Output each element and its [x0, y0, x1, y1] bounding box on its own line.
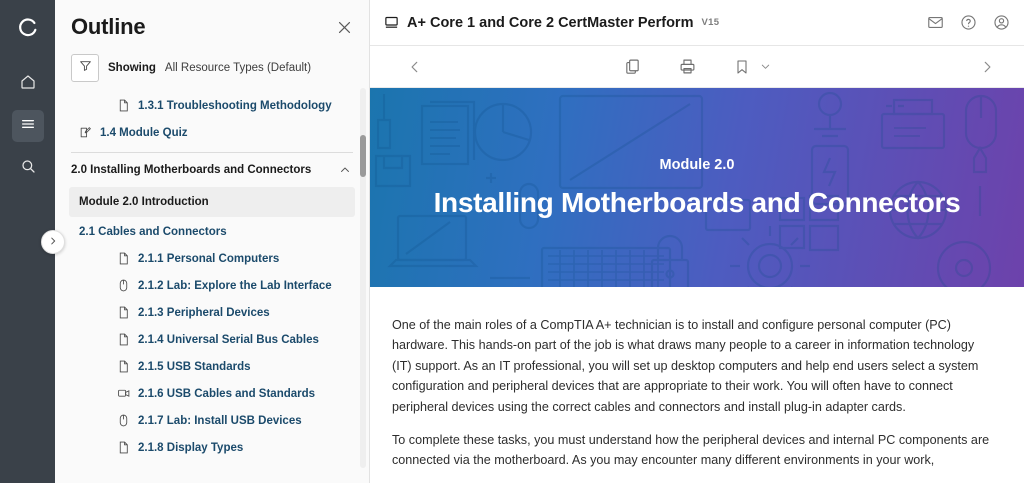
outline-item-label: 2.1.6 USB Cables and Standards	[138, 388, 315, 400]
print-icon[interactable]	[679, 58, 696, 75]
bookmark-group	[734, 59, 771, 75]
outline-item-label: 2.1 Cables and Connectors	[79, 226, 227, 238]
outline-panel: Outline Showing All Resource Types (Defa…	[55, 0, 370, 483]
course-title-group: A+ Core 1 and Core 2 CertMaster Perform …	[384, 15, 719, 31]
outline-item-2-1-4[interactable]: 2.1.4 Universal Serial Bus Cables	[65, 326, 359, 353]
showing-label: Showing	[108, 62, 156, 74]
outline-item-2-1[interactable]: 2.1 Cables and Connectors	[65, 219, 359, 245]
document-icon	[117, 360, 131, 373]
copy-icon[interactable]	[624, 58, 641, 75]
course-header: A+ Core 1 and Core 2 CertMaster Perform …	[370, 0, 1024, 46]
next-page-button[interactable]	[980, 60, 994, 74]
document-icon	[117, 306, 131, 319]
close-icon[interactable]	[336, 19, 353, 36]
toolbar-actions	[624, 58, 771, 75]
monitor-icon	[384, 15, 399, 30]
outline-item-2-1-2[interactable]: 2.1.2 Lab: Explore the Lab Interface	[65, 272, 359, 299]
outline-item-label: 1.3.1 Troubleshooting Methodology	[138, 100, 332, 112]
filter-icon	[79, 59, 92, 77]
outline-divider	[71, 152, 353, 153]
outline-item-2-1-7[interactable]: 2.1.7 Lab: Install USB Devices	[65, 407, 359, 434]
outline-item-label: 2.1.3 Peripheral Devices	[138, 307, 270, 319]
version-badge: V15	[701, 17, 719, 28]
page-toolbar	[370, 46, 1024, 88]
mail-icon[interactable]	[927, 14, 944, 31]
search-icon	[20, 158, 36, 179]
outline-item-2-1-1[interactable]: 2.1.1 Personal Computers	[65, 245, 359, 272]
outline-item-module-2-intro[interactable]: Module 2.0 Introduction	[69, 187, 355, 217]
outline-item-label: 2.1.1 Personal Computers	[138, 253, 279, 265]
outline-item-label: 1.4 Module Quiz	[100, 127, 188, 139]
course-title: A+ Core 1 and Core 2 CertMaster Perform	[407, 15, 693, 31]
chevron-right-icon	[48, 233, 58, 251]
outline-header: Outline	[55, 0, 369, 50]
home-icon	[20, 74, 36, 95]
rail-item-outline[interactable]	[12, 110, 44, 142]
rail-item-search[interactable]	[12, 152, 44, 184]
outline-item-1-3-1[interactable]: 1.3.1 Troubleshooting Methodology	[65, 92, 359, 119]
panel-collapse-handle[interactable]	[41, 230, 65, 254]
outline-item-2-1-8[interactable]: 2.1.8 Display Types	[65, 434, 359, 461]
video-icon	[117, 387, 131, 400]
content-panel: A+ Core 1 and Core 2 CertMaster Perform …	[370, 0, 1024, 483]
outline-item-2-1-6[interactable]: 2.1.6 USB Cables and Standards	[65, 380, 359, 407]
banner-module-label: Module 2.0	[660, 157, 735, 173]
showing-value[interactable]: All Resource Types (Default)	[165, 62, 311, 74]
module-banner: Module 2.0 Installing Motherboards and C…	[370, 88, 1024, 287]
rail-item-home[interactable]	[12, 68, 44, 100]
app-root: Outline Showing All Resource Types (Defa…	[0, 0, 1024, 483]
mouse-icon	[117, 414, 131, 427]
chevron-down-icon[interactable]	[760, 61, 771, 72]
outline-item-label: 2.1.2 Lab: Explore the Lab Interface	[138, 280, 332, 292]
outline-item-label: 2.1.4 Universal Serial Bus Cables	[138, 334, 319, 346]
menu-icon	[20, 116, 36, 137]
banner-title: Installing Motherboards and Connectors	[434, 187, 961, 219]
outline-tree: 1.3.1 Troubleshooting Methodology 1.4 Mo…	[55, 92, 369, 461]
filter-button[interactable]	[71, 54, 99, 82]
outline-scrollbar-thumb[interactable]	[360, 135, 366, 177]
quiz-icon	[79, 126, 93, 139]
chevron-up-icon[interactable]	[339, 164, 351, 176]
document-icon	[117, 99, 131, 112]
help-icon[interactable]	[960, 14, 977, 31]
outline-item-1-4[interactable]: 1.4 Module Quiz	[65, 119, 359, 146]
outline-item-2-1-5[interactable]: 2.1.5 USB Standards	[65, 353, 359, 380]
document-icon	[117, 333, 131, 346]
header-actions	[927, 14, 1010, 31]
outline-item-label: 2.1.5 USB Standards	[138, 361, 250, 373]
account-icon[interactable]	[993, 14, 1010, 31]
bookmark-icon[interactable]	[734, 59, 750, 75]
body-paragraph-2: To complete these tasks, you must unders…	[392, 430, 996, 471]
outline-item-2-1-3[interactable]: 2.1.3 Peripheral Devices	[65, 299, 359, 326]
outline-item-label: 2.1.8 Display Types	[138, 442, 243, 454]
document-icon	[117, 441, 131, 454]
document-icon	[117, 252, 131, 265]
outline-section-2-0[interactable]: 2.0 Installing Motherboards and Connecto…	[65, 155, 359, 185]
outline-section-label: 2.0 Installing Motherboards and Connecto…	[71, 164, 311, 176]
app-logo-icon[interactable]	[10, 10, 46, 46]
outline-item-label: 2.1.7 Lab: Install USB Devices	[138, 415, 302, 427]
filter-row: Showing All Resource Types (Default)	[55, 50, 369, 92]
lesson-body: One of the main roles of a CompTIA A+ te…	[370, 287, 1024, 471]
mouse-icon	[117, 279, 131, 292]
body-paragraph-1: One of the main roles of a CompTIA A+ te…	[392, 315, 996, 417]
previous-page-button[interactable]	[408, 60, 422, 74]
page-title: Outline	[71, 14, 145, 40]
